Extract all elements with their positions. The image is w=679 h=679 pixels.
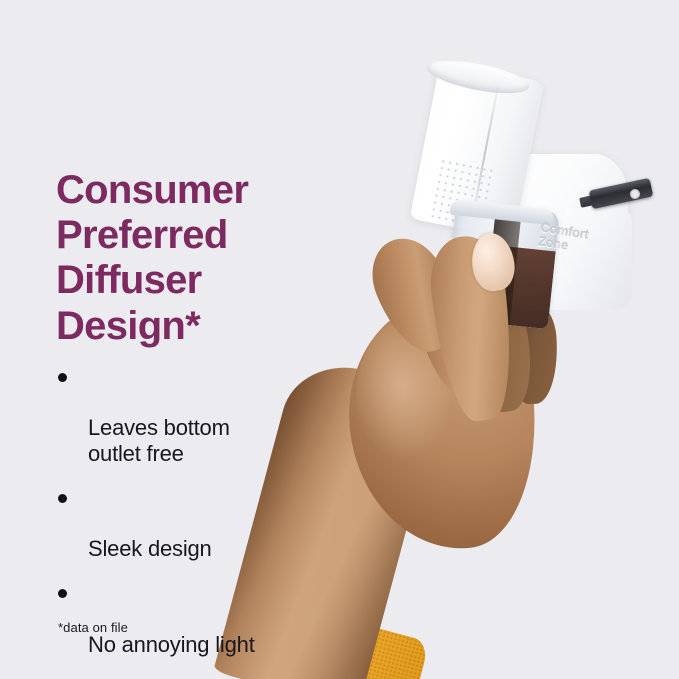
refill-liquid (444, 241, 556, 329)
prong-stem (579, 194, 599, 208)
thumb (425, 232, 521, 425)
list-item-label: Leaves bottom outlet free (88, 415, 230, 466)
palm-highlight (346, 312, 485, 514)
product-marketing-image: Comfort Zone Consumer Preferred Diffuser… (0, 0, 679, 679)
list-item-label: Sleek design (88, 536, 212, 561)
list-item: Leaves bottom outlet free (56, 364, 356, 467)
device-body (516, 208, 632, 310)
index-finger (359, 227, 471, 363)
footnote: *data on file (58, 620, 128, 635)
prong-hole (629, 188, 641, 200)
thumb-nail (468, 230, 518, 293)
device-shoulder (498, 154, 628, 274)
list-item-label: No annoying light (88, 632, 255, 657)
middle-finger (407, 269, 504, 404)
bottle-gloss (451, 253, 485, 314)
list-item: No annoying light (56, 580, 356, 657)
list-item: Sleek design (56, 485, 356, 562)
bottle-wick-band (484, 205, 522, 325)
device-seam (470, 79, 501, 227)
bullet-icon (58, 494, 67, 503)
bullet-icon (58, 373, 67, 382)
brand-logo: Comfort Zone (535, 220, 614, 271)
pinky-finger (503, 299, 559, 405)
bullet-icon (58, 589, 67, 598)
device-edge-highlight (551, 172, 646, 297)
device-top-opening (424, 54, 531, 99)
device-texture-dots (429, 157, 496, 229)
copy-block: Consumer Preferred Diffuser Design* (56, 168, 356, 349)
bottle-rim (449, 199, 554, 226)
plug-prong (589, 178, 654, 209)
ring-finger (462, 292, 538, 415)
palm (337, 291, 548, 559)
refill-bottle (444, 201, 560, 329)
device-barrel (410, 61, 545, 238)
page-title: Consumer Preferred Diffuser Design* (56, 168, 356, 349)
diffuser-device: Comfort Zone (412, 58, 662, 348)
